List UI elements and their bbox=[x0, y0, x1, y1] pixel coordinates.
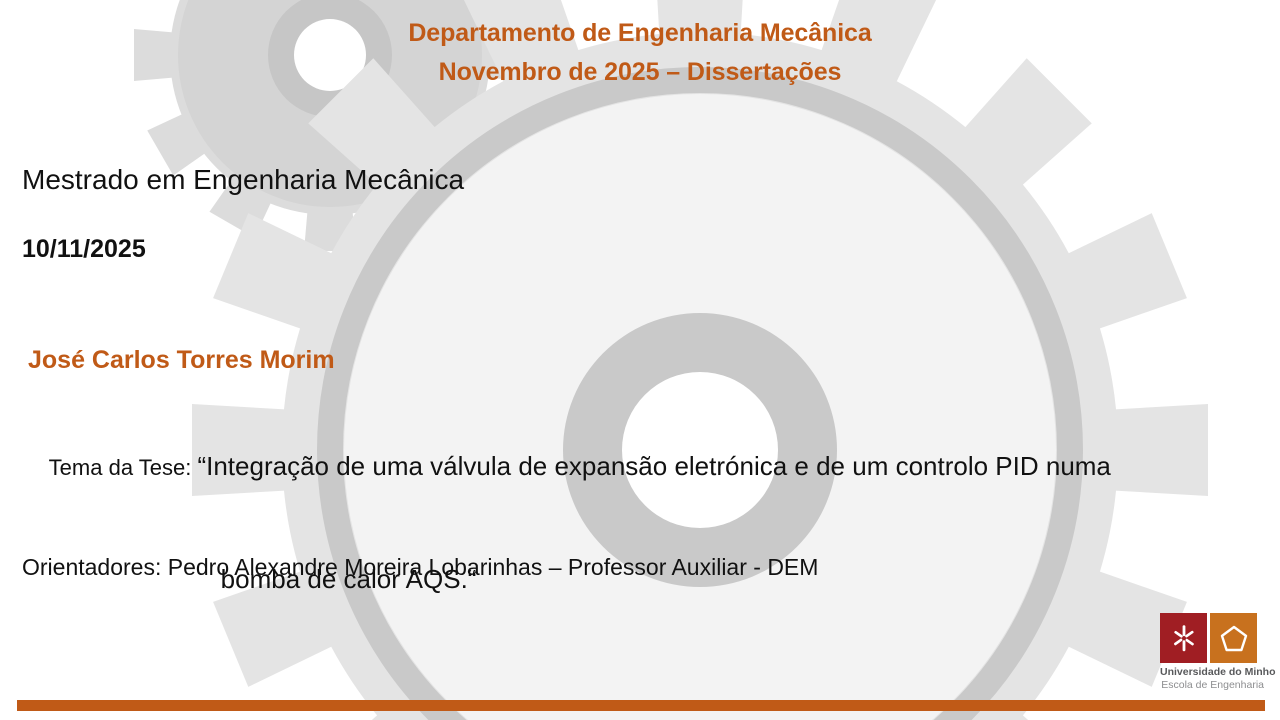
uminho-pentagon-icon bbox=[1210, 613, 1257, 663]
logo-marks bbox=[1160, 613, 1264, 663]
heading-line-1: Departamento de Engenharia Mecânica bbox=[0, 14, 1280, 53]
slide-content: Departamento de Engenharia Mecânica Nove… bbox=[0, 0, 1280, 720]
uminho-logo: Universidade do Minho Escola de Engenhar… bbox=[1160, 613, 1264, 692]
page-title: Departamento de Engenharia Mecânica Nove… bbox=[0, 14, 1280, 92]
student-name: José Carlos Torres Morim bbox=[28, 344, 335, 376]
uminho-logo-text: Universidade do Minho Escola de Engenhar… bbox=[1160, 666, 1264, 692]
thesis-title-line-1: “Integração de uma válvula de expansão e… bbox=[197, 451, 1110, 481]
thesis-line-1: Tema da Tese: “Integração de uma válvula… bbox=[22, 412, 1262, 525]
advisors-line: Orientadores: Pedro Alexandre Moreira Lo… bbox=[22, 552, 818, 582]
thesis-label: Tema da Tese: bbox=[49, 455, 198, 480]
heading-line-2: Novembro de 2025 – Dissertações bbox=[0, 53, 1280, 92]
thesis-theme-block: Tema da Tese: “Integração de uma válvula… bbox=[22, 412, 1262, 638]
presentation-date: 10/11/2025 bbox=[22, 233, 146, 265]
logo-school-name: Escola de Engenharia bbox=[1160, 679, 1264, 692]
logo-university-name: Universidade do Minho bbox=[1160, 666, 1265, 679]
uminho-asterisk-icon bbox=[1160, 613, 1207, 663]
bottom-accent-bar bbox=[17, 700, 1265, 711]
course-label: Mestrado em Engenharia Mecânica bbox=[22, 163, 464, 197]
